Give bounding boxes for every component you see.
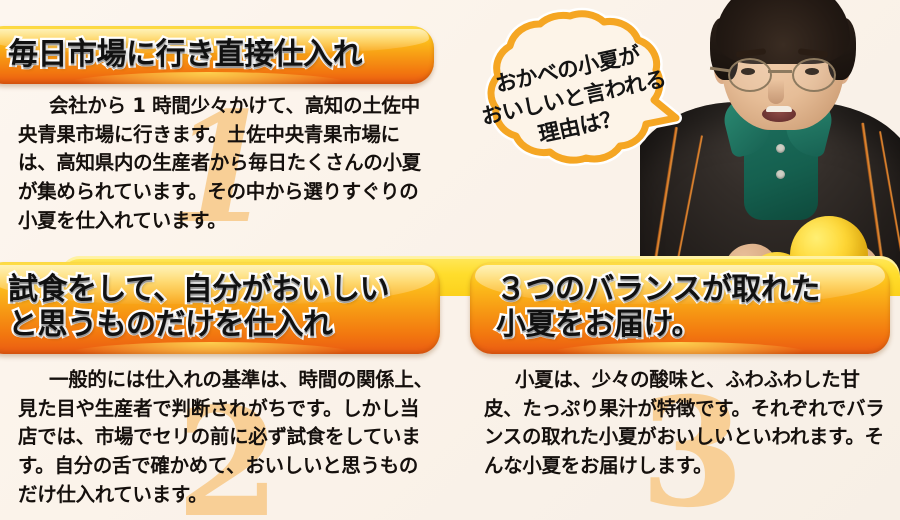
section-3-heading-line-2: 小夏をお届け。 xyxy=(496,308,820,343)
section-3-heading-text: ３つのバランスが取れた 小夏をお届け。 xyxy=(470,273,838,343)
section-2-heading-line-1: 試食をして、自分がおいしい xyxy=(8,273,389,308)
shirt-button xyxy=(776,144,785,153)
glasses-lens xyxy=(792,58,836,92)
section-2-heading-text: 試食をして、自分がおいしい と思うものだけを仕入れ xyxy=(0,273,407,343)
glasses-bridge xyxy=(768,70,792,73)
section-2-heading: 試食をして、自分がおいしい と思うものだけを仕入れ xyxy=(0,262,440,354)
teeth xyxy=(766,106,792,112)
shirt-button xyxy=(776,170,785,179)
nose xyxy=(768,80,784,104)
section-3-heading: ３つのバランスが取れた 小夏をお届け。 xyxy=(470,262,890,354)
glasses-lens xyxy=(728,58,772,92)
section-1-heading-text: 毎日市場に行き直接仕入れ xyxy=(0,38,380,73)
question-bubble: おかべの小夏が おいしいと言われる 理由は？ xyxy=(452,16,688,212)
section-1-heading: 毎日市場に行き直接仕入れ xyxy=(0,26,434,84)
section-2-body: 一般的には仕入れの基準は、時間の関係上、見た目や生産者で判断されがちです。しかし… xyxy=(18,366,434,510)
section-1-body: 会社から 1 時間少々かけて、高知の土佐中央青果市場に行きます。土佐中央青果市場… xyxy=(18,92,422,236)
section-3-body: 小夏は、少々の酸味と、ふわふわした甘皮、たっぷり果汁が特徴です。それぞれでバラン… xyxy=(484,366,888,481)
section-2-heading-line-2: と思うものだけを仕入れ xyxy=(8,308,389,343)
bubble-cloud-shape xyxy=(491,14,676,160)
section-3-heading-line-1: ３つのバランスが取れた xyxy=(496,273,820,308)
